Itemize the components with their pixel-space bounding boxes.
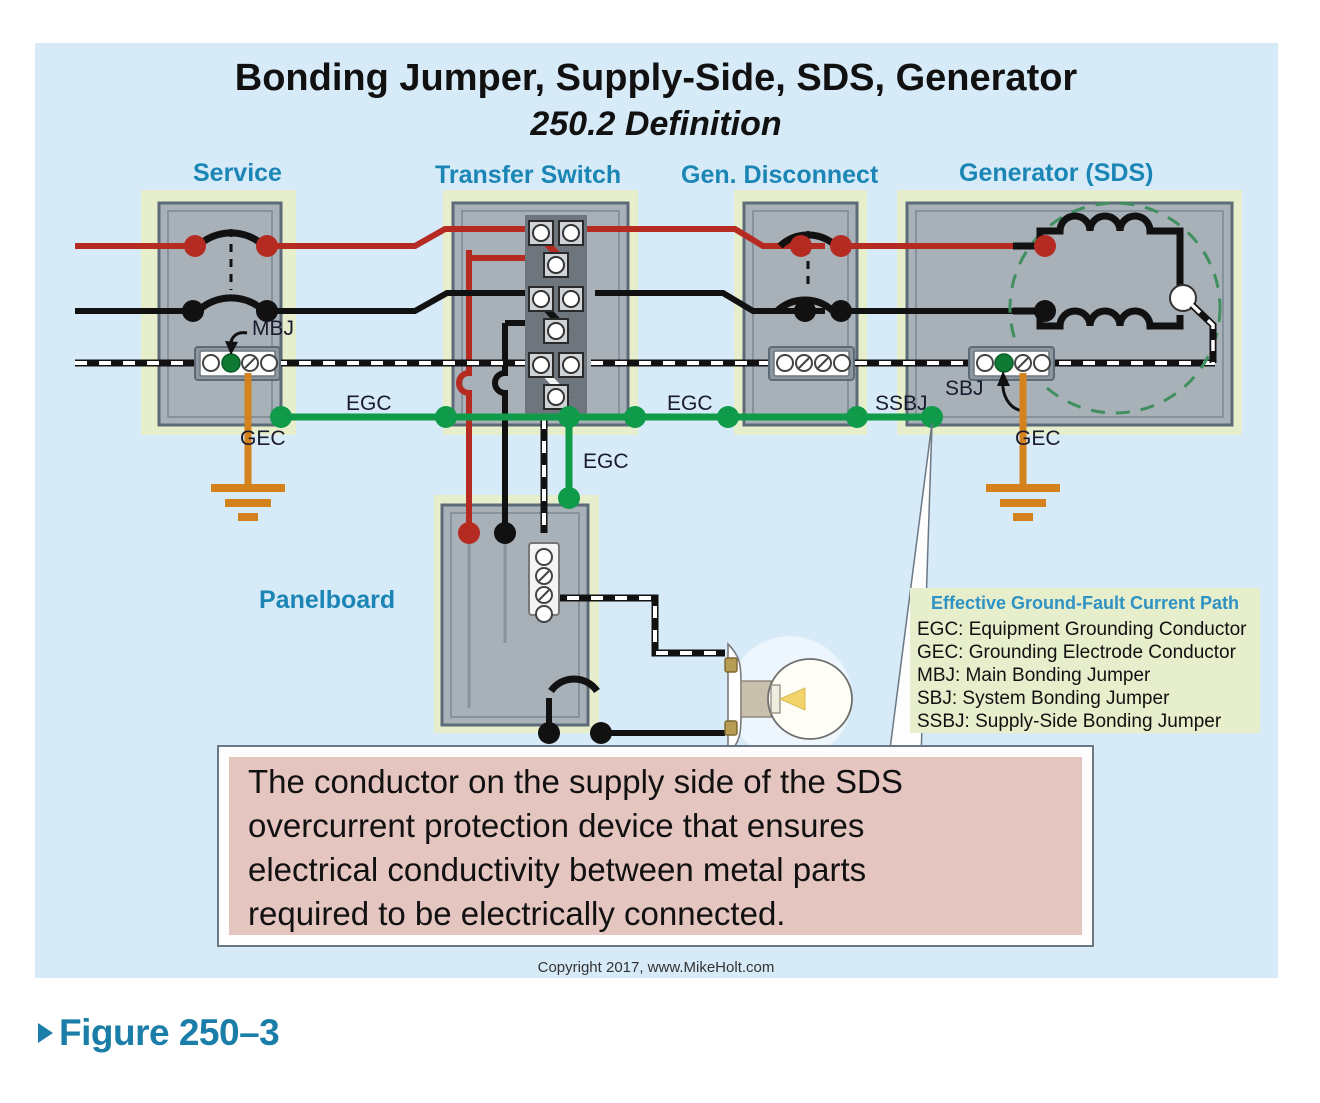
legend-item-gec: GEC: Grounding Electrode Conductor [917, 642, 1237, 663]
transfer-block-grounded [525, 281, 587, 354]
figure-caption: Figure 250–3 [38, 1012, 279, 1054]
transfer-block-ungrounded [525, 215, 587, 288]
legend-item-ssbj: SSBJ: Supply-Side Bonding Jumper [917, 711, 1222, 732]
label-gec-service: GEC [240, 427, 286, 450]
definition-line-4: required to be electrically connected. [248, 895, 785, 932]
legend-item-egc: EGC: Equipment Grounding Conductor [917, 619, 1247, 640]
figure-subtitle: 250.2 Definition [529, 105, 781, 143]
lamp-terminal-bottom [725, 721, 737, 735]
label-sbj: SBJ [945, 377, 984, 400]
heading-transfer-switch: Transfer Switch [435, 161, 621, 189]
heading-service: Service [193, 159, 282, 187]
gen-disconnect-neutral-bar [769, 347, 854, 380]
label-gec-generator: GEC [1015, 427, 1061, 450]
legend-title: Effective Ground-Fault Current Path [931, 593, 1239, 613]
generator-neutral-bar [969, 347, 1054, 380]
diagram-svg: Bonding Jumper, Supply-Side, SDS, Genera… [35, 43, 1278, 978]
legend-box: Effective Ground-Fault Current Path EGC:… [910, 588, 1260, 733]
definition-line-2: overcurrent protection device that ensur… [248, 807, 864, 844]
lamp-terminal-top [725, 658, 737, 672]
heading-generator-sds: Generator (SDS) [959, 159, 1153, 187]
figure-panel: Bonding Jumper, Supply-Side, SDS, Genera… [35, 43, 1278, 978]
legend-item-sbj: SBJ: System Bonding Jumper [917, 688, 1170, 709]
caption-label: Figure 250–3 [59, 1012, 279, 1054]
label-egc-1: EGC [346, 392, 392, 415]
definition-line-1: The conductor on the supply side of the … [248, 763, 903, 800]
copyright-text: Copyright 2017, www.MikeHolt.com [538, 959, 775, 976]
label-egc-2: EGC [667, 392, 713, 415]
definition-box: The conductor on the supply side of the … [218, 746, 1093, 946]
heading-panelboard: Panelboard [259, 586, 395, 614]
sbj-screw [995, 354, 1013, 372]
service-neutral-bar [195, 347, 280, 380]
heading-gen-disconnect: Gen. Disconnect [681, 161, 879, 189]
figure-title: Bonding Jumper, Supply-Side, SDS, Genera… [235, 57, 1078, 99]
label-egc-3: EGC [583, 450, 629, 473]
definition-line-3: electrical conductivity between metal pa… [248, 851, 866, 888]
legend-item-mbj: MBJ: Main Bonding Jumper [917, 665, 1151, 686]
mbj-screw [222, 354, 240, 372]
transfer-block-neutral [525, 347, 587, 420]
label-mbj: MBJ [252, 317, 294, 340]
lamp-fixture [725, 636, 852, 760]
lamp-socket [741, 681, 771, 717]
label-ssbj: SSBJ [875, 392, 928, 415]
caption-triangle-icon [38, 1023, 53, 1043]
